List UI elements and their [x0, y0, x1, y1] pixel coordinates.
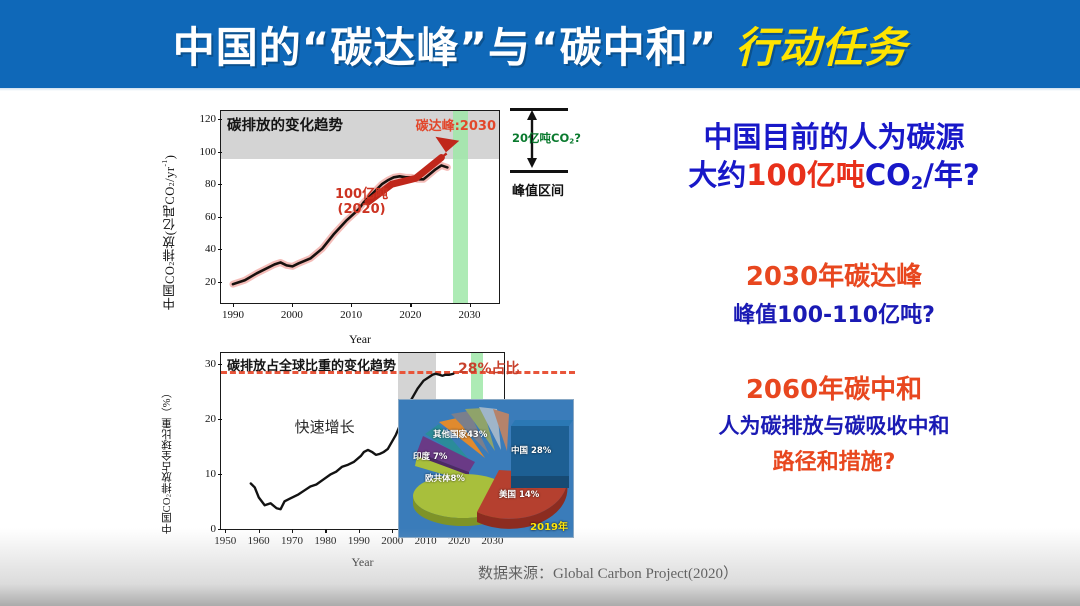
- top-chart-x-axis-title: Year: [220, 332, 500, 347]
- top-chart-ytick-60: 60: [205, 211, 216, 223]
- peak-panel-mid-rule: [510, 170, 568, 173]
- bottom-chart-28-percent-label: 28%占比: [458, 358, 520, 378]
- top-chart-amount-line1: 100亿吨: [335, 187, 388, 202]
- page-title-main: 中国的“碳达峰”与“碳中和”: [173, 14, 717, 75]
- pie-label-usa: 美国 14%: [499, 488, 539, 500]
- neutral-2060-subtext2: 路径和措施?: [588, 444, 1080, 476]
- slide-canvas: 中国的“碳达峰”与“碳中和” 行动任务 中国CO2排放(亿吨CO2/yr-1) …: [0, 0, 1080, 606]
- bottom-chart-inner-title: 碳排放占全球比重的变化趋势: [227, 355, 396, 374]
- top-chart-amount-line2: (2020): [338, 202, 386, 217]
- peak-range-side-panel: 20亿吨CO2? 峰值区间: [510, 108, 568, 216]
- right-text-column: 中国目前的人为碳源 大约100亿吨CO2/年? 2030年碳达峰 峰值100-1…: [588, 104, 1080, 476]
- top-chart-plot-area: 120 100 80 60 40 20 1990 2000 2010 2020 …: [220, 110, 500, 304]
- q-line2-pre: 大约: [688, 158, 746, 192]
- chart-global-emission-share-pie: 中国 28% 美国 14% 欧共体8% 印度 7% 其他国家43% 2019年: [398, 399, 574, 538]
- neutral-2060-subtext1: 人为碳排放与碳吸收中和: [588, 410, 1080, 440]
- peak-panel-gap-label: 20亿吨CO2?: [512, 130, 581, 146]
- carbon-source-question-line2: 大约100亿吨CO2/年?: [588, 158, 1080, 194]
- top-chart-inner-title: 碳排放的变化趋势: [227, 114, 343, 135]
- peak-2030-subtext: 峰值100-110亿吨?: [588, 297, 1080, 329]
- top-chart-amount-annotation: 100亿吨 (2020): [335, 188, 388, 218]
- bottom-chart-xtick-1950: 1950: [214, 535, 236, 547]
- page-title-accent: 行动任务: [735, 14, 907, 75]
- header-underline: [0, 88, 1080, 91]
- neutral-2060-block: 2060年碳中和 人为碳排放与碳吸收中和 路径和措施?: [588, 369, 1080, 476]
- pie-label-china: 中国 28%: [511, 444, 551, 456]
- top-chart-xtick-2030: 2030: [459, 309, 481, 321]
- top-chart-ytick-40: 40: [205, 243, 216, 255]
- pie-label-eu: 欧共体8%: [425, 472, 465, 484]
- carbon-source-question-line1: 中国目前的人为碳源: [588, 120, 1080, 154]
- page-title: 中国的“碳达峰”与“碳中和” 行动任务: [0, 0, 1080, 88]
- pie-chart-graphic: [399, 400, 573, 537]
- q-line2-highlight: 100亿吨: [746, 158, 865, 192]
- top-chart-xtick-1990: 1990: [222, 309, 244, 321]
- peak-panel-range-label: 峰值区间: [512, 180, 564, 199]
- top-chart-xtick-2000: 2000: [281, 309, 303, 321]
- top-chart-ytick-120: 120: [200, 113, 217, 125]
- top-chart-peak-annotation: 碳达峰:2030: [416, 115, 496, 134]
- bottom-chart-rapid-growth-annotation: 快速增长: [295, 416, 355, 437]
- bottom-chart-ytick-20: 20: [205, 413, 216, 425]
- bottom-chart-x-axis-title: Year: [220, 555, 505, 570]
- data-source-note: 数据来源：Global Carbon Project(2020）: [478, 562, 738, 583]
- pie-label-india: 印度 7%: [413, 450, 447, 462]
- top-chart-ytick-80: 80: [205, 178, 216, 190]
- bottom-chart-ytick-10: 10: [205, 468, 216, 480]
- chart-china-co2-emissions: 中国CO2排放(亿吨CO2/yr-1) 120 100 80 60 40 20 …: [158, 104, 568, 339]
- top-chart-ytick-20: 20: [205, 276, 216, 288]
- neutral-2060-heading: 2060年碳中和: [588, 369, 1080, 406]
- bottom-chart-xtick-1960: 1960: [248, 535, 270, 547]
- bottom-chart-ytick-0: 0: [211, 523, 217, 535]
- peak-2030-heading: 2030年碳达峰: [588, 256, 1080, 293]
- top-chart-y-axis-title: 中国CO2排放(亿吨CO2/yr-1): [160, 110, 179, 310]
- bottom-chart-xtick-1970: 1970: [281, 535, 303, 547]
- top-chart-ytick-100: 100: [200, 146, 217, 158]
- carbon-source-question: 中国目前的人为碳源 大约100亿吨CO2/年?: [588, 120, 1080, 194]
- pie-year-label: 2019年: [530, 518, 568, 533]
- bottom-chart-xtick-1980: 1980: [314, 535, 336, 547]
- bottom-chart-y-axis-title: 中国CO2排放占全球比重（%）: [160, 352, 175, 534]
- pie-label-other: 其他国家43%: [433, 428, 487, 440]
- top-chart-xtick-2020: 2020: [399, 309, 421, 321]
- top-chart-xtick-2010: 2010: [340, 309, 362, 321]
- bottom-chart-ytick-30: 30: [205, 358, 216, 370]
- bottom-chart-xtick-1990: 1990: [348, 535, 370, 547]
- peak-2030-block: 2030年碳达峰 峰值100-110亿吨?: [588, 256, 1080, 329]
